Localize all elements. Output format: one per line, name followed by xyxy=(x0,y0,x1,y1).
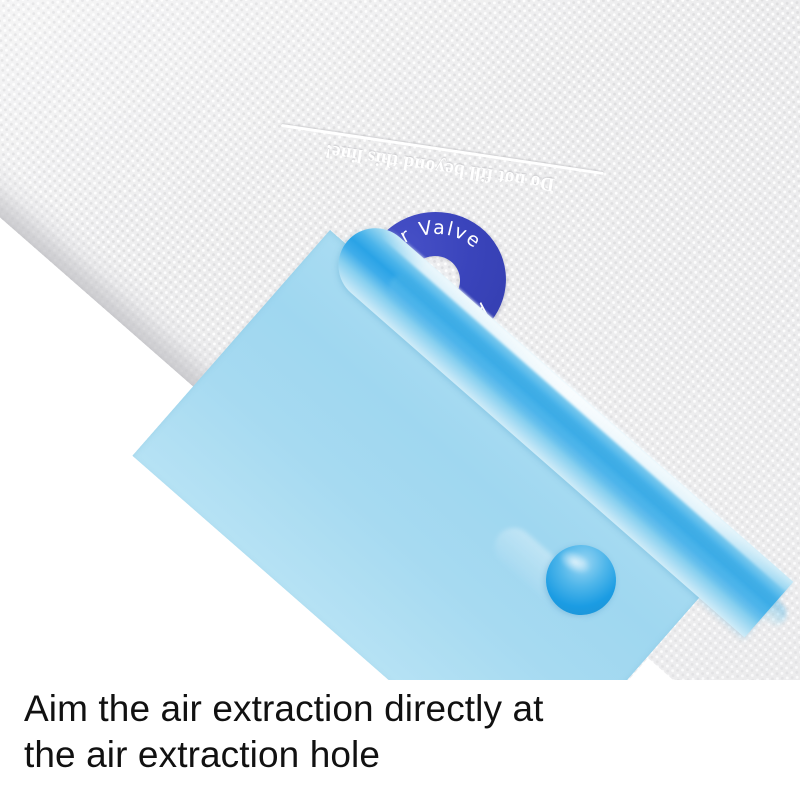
air-valve-label-bottom-path: Air Valve xyxy=(383,297,497,349)
caption-line-2: the air extraction hole xyxy=(24,732,724,778)
product-photo: Do not fill beyond this line! Air Valve … xyxy=(0,0,800,680)
instruction-caption: Aim the air extraction directly at the a… xyxy=(24,686,724,778)
caption-line-1: Aim the air extraction directly at xyxy=(24,686,724,732)
air-valve[interactable]: Air Valve Air Valve xyxy=(357,205,512,355)
screenshot-root: Do not fill beyond this line! Air Valve … xyxy=(0,0,800,800)
air-valve-label-bottom: Air Valve xyxy=(383,297,497,349)
